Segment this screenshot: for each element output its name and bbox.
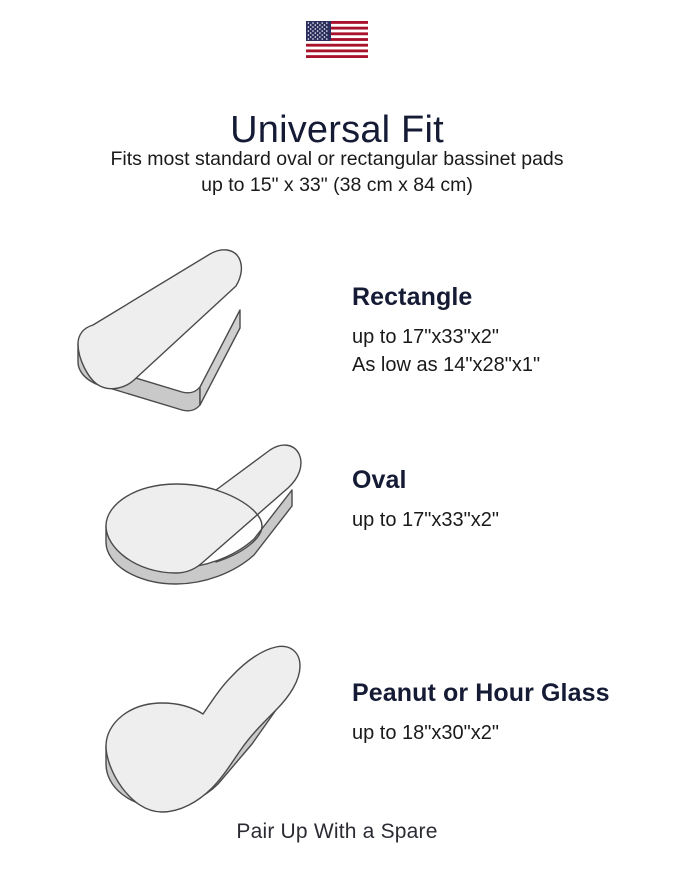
peanut-text-block: Peanut or Hour Glass up to 18"x30"x2": [352, 678, 610, 747]
peanut-pad-illustration: [92, 624, 317, 844]
rectangle-specs: up to 17"x33"x2" As low as 14"x28"x1": [352, 323, 540, 380]
product-spec-peanut-1: up to 18"x30"x2": [352, 719, 610, 747]
peanut-pad-icon: [92, 624, 317, 839]
oval-pad-illustration: [92, 432, 317, 612]
peanut-specs: up to 18"x30"x2": [352, 719, 610, 747]
product-name-peanut: Peanut or Hour Glass: [352, 678, 610, 708]
product-spec-oval-1: up to 17"x33"x2": [352, 506, 499, 534]
oval-pad-icon: [92, 432, 317, 607]
footer-tagline: Pair Up With a Spare: [0, 820, 674, 844]
oval-text-block: Oval up to 17"x33"x2": [352, 465, 499, 534]
rectangle-text-block: Rectangle up to 17"x33"x2" As low as 14"…: [352, 282, 540, 380]
product-name-rectangle: Rectangle: [352, 282, 540, 312]
product-row-oval: Oval up to 17"x33"x2": [0, 432, 674, 607]
product-name-oval: Oval: [352, 465, 499, 495]
subtitle-line-2: up to 15" x 33" (38 cm x 84 cm): [0, 173, 674, 199]
product-row-peanut: Peanut or Hour Glass up to 18"x30"x2": [0, 624, 674, 839]
rectangle-pad-illustration: [62, 238, 262, 423]
us-flag-icon: [306, 21, 368, 58]
oval-specs: up to 17"x33"x2": [352, 506, 499, 534]
product-spec-rectangle-2: As low as 14"x28"x1": [352, 351, 540, 379]
product-row-rectangle: Rectangle up to 17"x33"x2" As low as 14"…: [0, 238, 674, 418]
flag-container: [0, 21, 674, 58]
rectangle-pad-icon: [62, 238, 262, 418]
page-subtitle: Fits most standard oval or rectangular b…: [0, 147, 674, 198]
subtitle-line-1: Fits most standard oval or rectangular b…: [0, 147, 674, 173]
product-spec-rectangle-1: up to 17"x33"x2": [352, 323, 540, 351]
